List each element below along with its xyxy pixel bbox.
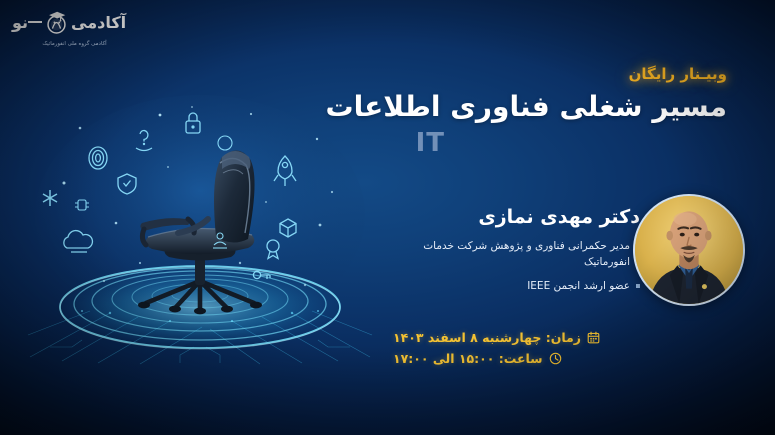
brand-logo[interactable]: آکادمی نو آکادمی گروه ملی انفورماتیک [12, 6, 137, 54]
logo-word-right: آکادمی [71, 15, 126, 31]
schedule-time-text: ساعت: ۱۵:۰۰ الی ۱۷:۰۰ [393, 351, 543, 366]
title-latin-subtitle: IT [416, 128, 445, 158]
logo-word-left: نو [12, 15, 28, 31]
schedule-date-text: زمان: چهارشنبه ۸ اسفند ۱۴۰۳ [393, 330, 581, 345]
free-webinar-badge: وبیـنار رایگان [629, 65, 727, 83]
brand-subtitle: آکادمی گروه ملی انفورماتیک [12, 41, 137, 47]
list-item: عضو ارشد انجمن IEEE [385, 278, 640, 294]
credential-text: مدیر حکمرانی فناوری و پژوهش شرکت خدمات ا… [385, 238, 630, 271]
logo-row: آکادمی نو [12, 6, 137, 39]
schedule-date-row: زمان: چهارشنبه ۸ اسفند ۱۴۰۳ [393, 330, 600, 345]
speaker-credentials-list: مدیر حکمرانی فناوری و پژوهش شرکت خدمات ا… [385, 238, 640, 301]
bullet-icon [636, 284, 640, 288]
credential-text: عضو ارشد انجمن IEEE [385, 278, 630, 294]
list-item: مدیر حکمرانی فناوری و پژوهش شرکت خدمات ا… [385, 238, 640, 271]
webinar-poster: آکادمی نو آکادمی گروه ملی انفورماتیک [0, 0, 775, 435]
avatar [633, 194, 745, 306]
calendar-icon [587, 331, 600, 344]
clock-icon [549, 352, 562, 365]
logo-divider-dash [28, 21, 42, 23]
graduation-cap-face-icon [43, 9, 70, 36]
schedule-block: زمان: چهارشنبه ۸ اسفند ۱۴۰۳ ساعت: ۱۵:۰۰ … [393, 330, 600, 372]
office-chair-hologram-illustration [20, 95, 380, 365]
page-title: مسیر شغلی فناوری اطلاعات [326, 90, 728, 123]
speaker-name: دکتر مهدی نمازی [478, 206, 640, 228]
schedule-time-row: ساعت: ۱۵:۰۰ الی ۱۷:۰۰ [393, 351, 600, 366]
